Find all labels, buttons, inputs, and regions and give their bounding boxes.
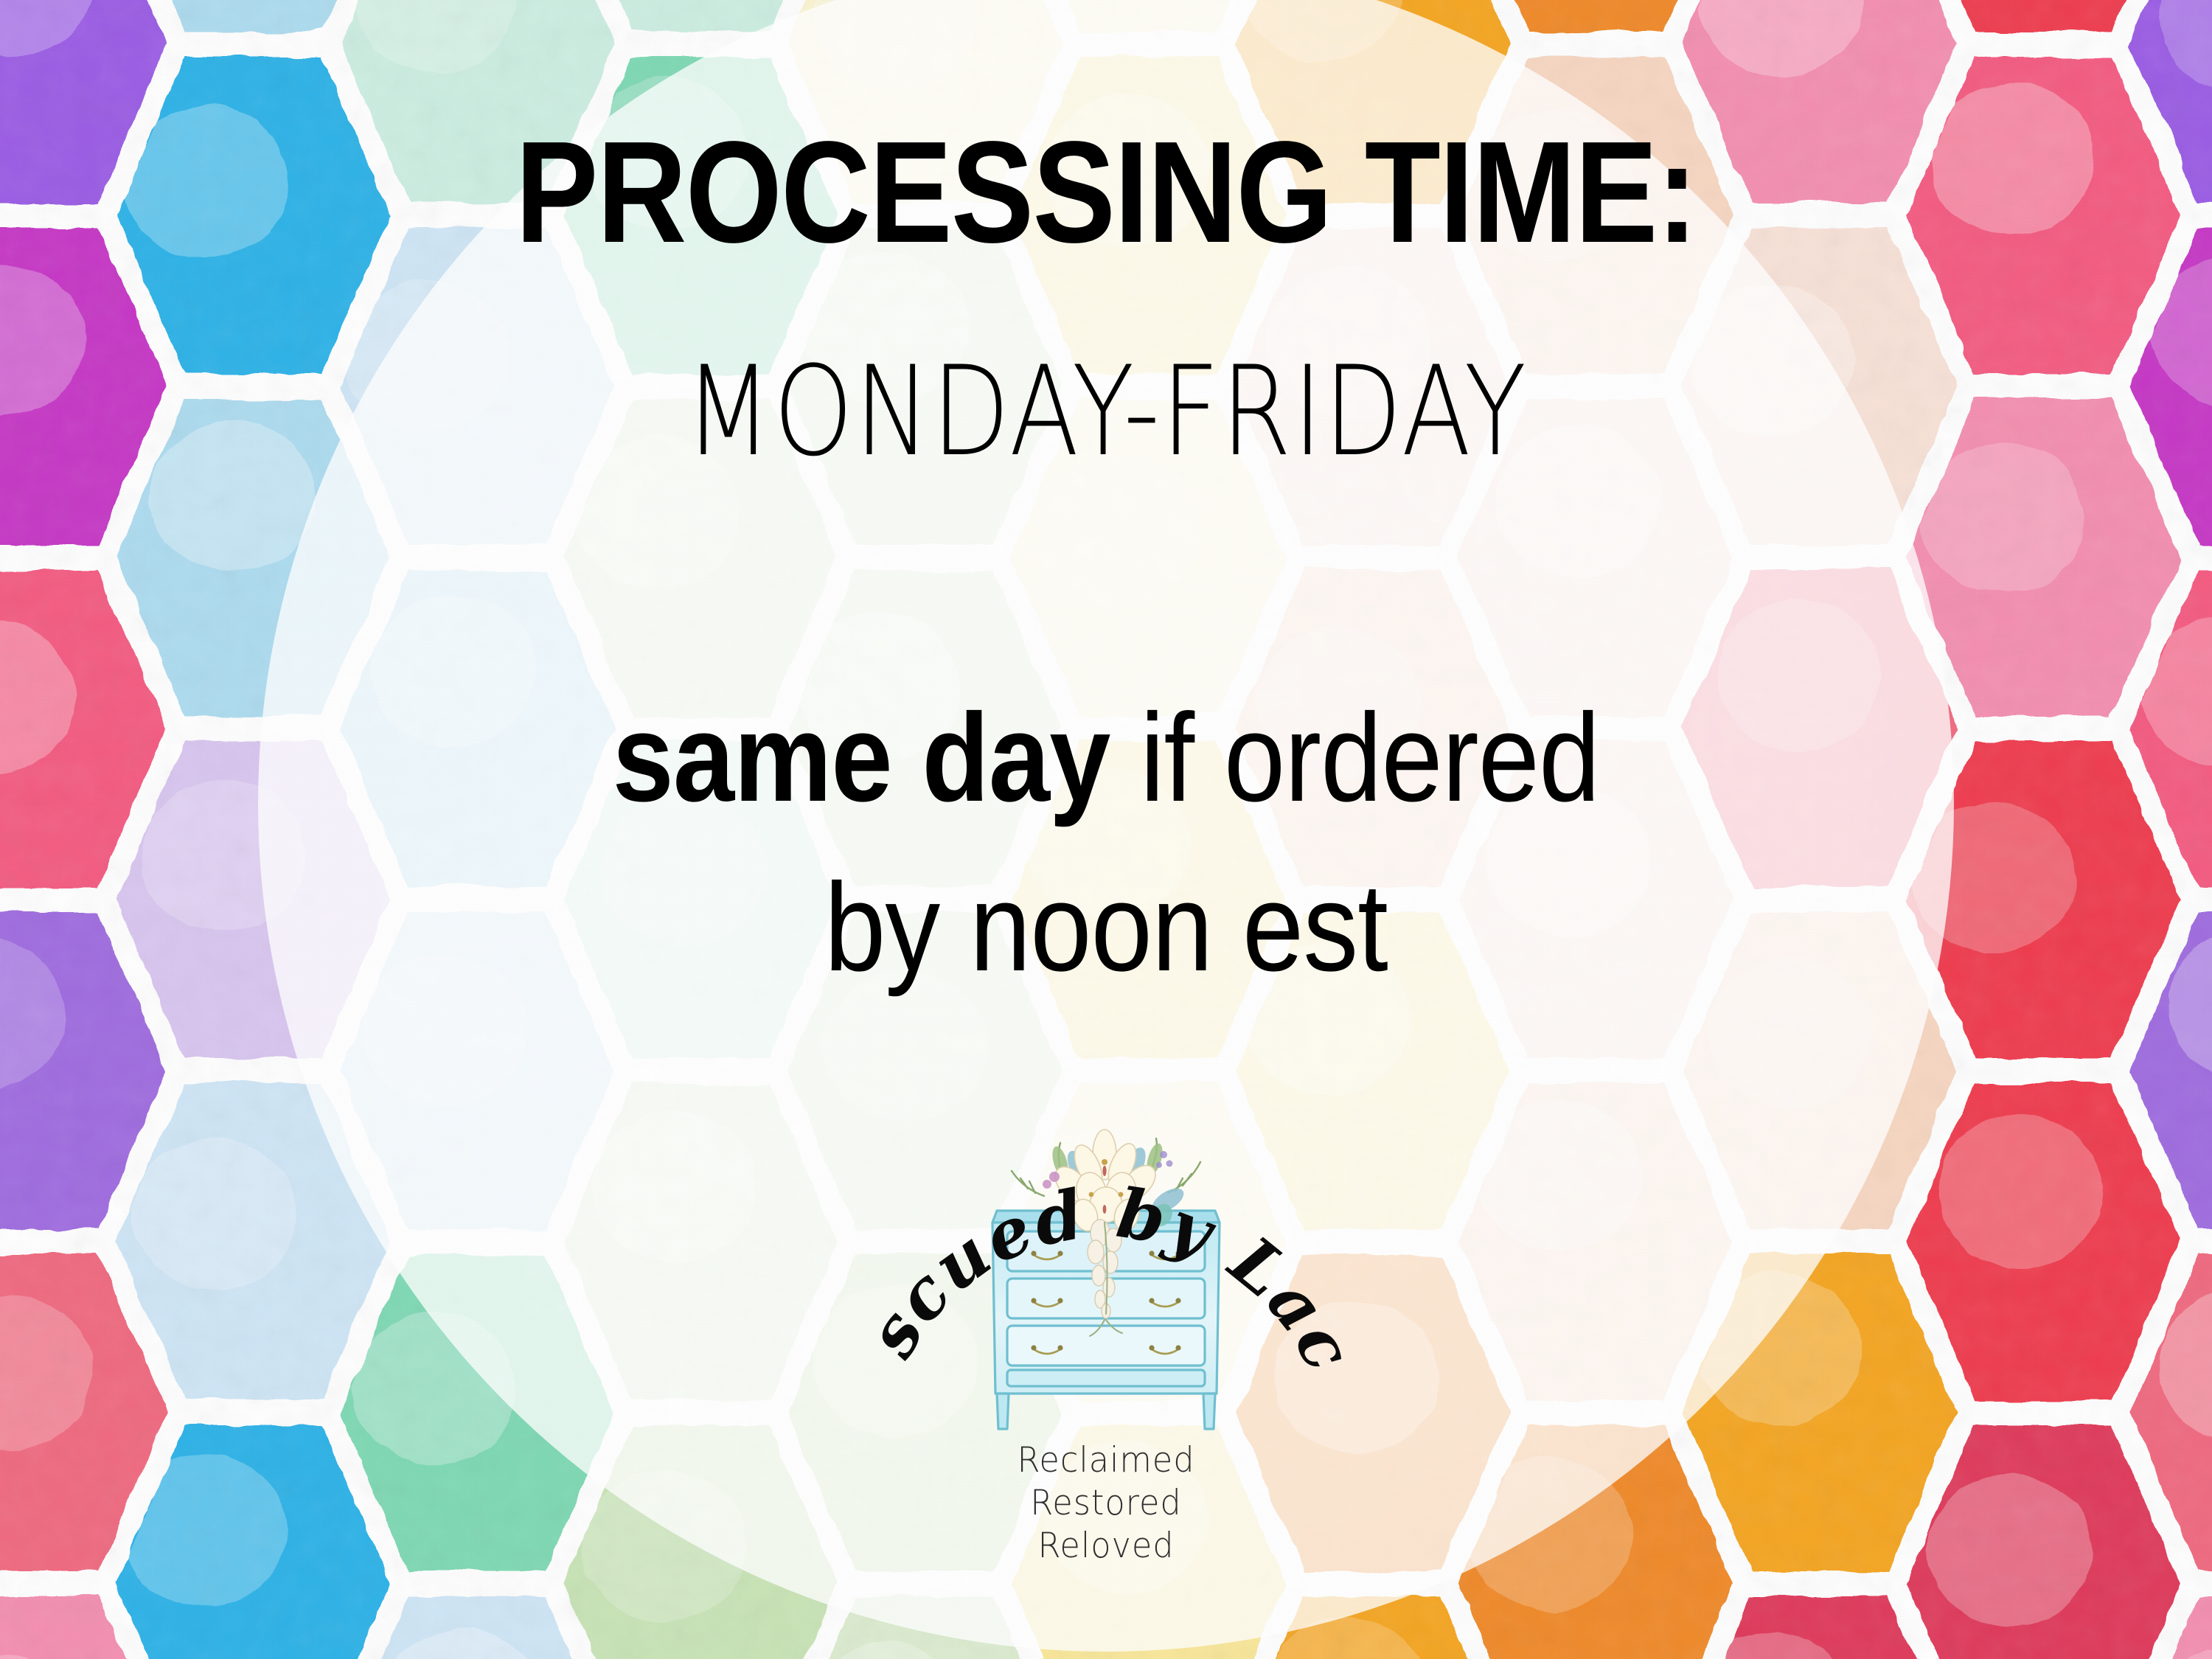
tagline-line-2: Restored [882, 1482, 1330, 1525]
tagline-line-3: Reloved [882, 1525, 1330, 1568]
brand-logo: Rescued by Lacey Reclaimed Restored Relo… [870, 1025, 1342, 1630]
headline-secondary: MONDAY-FRIDAY [199, 339, 2013, 484]
body-emphasis: same day [613, 688, 1110, 828]
body-regular: if ordered [1110, 688, 1600, 828]
body-line-2: by noon est [133, 855, 2079, 1000]
tagline-line-1: Reclaimed [882, 1439, 1330, 1482]
body-line-1: same day if ordered [133, 686, 2079, 830]
brand-tagline: Reclaimed Restored Reloved [870, 1439, 1342, 1568]
poster-canvas: PROCESSING TIME: MONDAY-FRIDAY same day … [0, 0, 2212, 1659]
headline-primary: PROCESSING TIME: [155, 109, 2057, 275]
logo-mark-svg: Rescued by Lacey [870, 1025, 1342, 1438]
poster-content: PROCESSING TIME: MONDAY-FRIDAY same day … [0, 0, 2212, 1659]
